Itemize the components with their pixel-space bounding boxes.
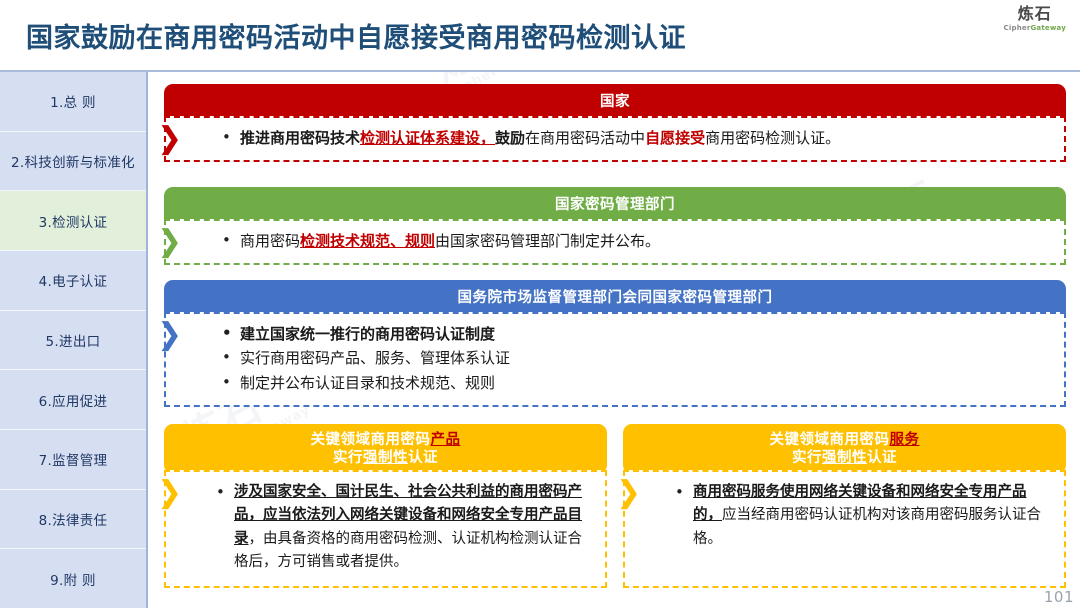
- card-service-title-line1: 关键领域商用密码服务: [770, 431, 920, 449]
- sidebar-item-9[interactable]: 9.附 则: [0, 549, 146, 608]
- sidebar-item-7[interactable]: 7.监督管理: [0, 430, 146, 490]
- logo-en-gateway: Gateway: [1030, 24, 1066, 32]
- card-product-title-line1: 关键领域商用密码产品: [311, 431, 461, 449]
- slide-root: 炼石 CipherGateway 炼石 CipherGateway 炼石 Cip…: [0, 0, 1080, 608]
- sidebar-item-4[interactable]: 4.电子认证: [0, 251, 146, 311]
- chevron-right-icon: ❯: [157, 124, 182, 154]
- list-item: 实行商用密码产品、服务、管理体系认证: [218, 347, 1050, 370]
- section-market-supervision-header: 国务院市场监督管理部门会同国家密码管理部门: [164, 280, 1066, 316]
- section-national: 国家 ❯ 推进商用密码技术检测认证体系建设，鼓励在商用密码活动中自愿接受商用密码…: [164, 84, 1066, 162]
- list-item: 商用密码服务使用网络关键设备和网络安全专用产品的，应当经商用密码认证机构对该商用…: [671, 481, 1052, 551]
- card-service-header: 关键领域商用密码服务 实行强制性认证: [623, 424, 1066, 474]
- section-market-supervision: 国务院市场监督管理部门会同国家密码管理部门 ❯ 建立国家统一推行的商用密码认证制…: [164, 280, 1066, 407]
- list-item: 商用密码检测技术规范、规则由国家密码管理部门制定并公布。: [218, 230, 1050, 253]
- sidebar-item-3[interactable]: 3.检测认证: [0, 191, 146, 251]
- chapter-sidebar: 1.总 则 2.科技创新与标准化 3.检测认证 4.电子认证 5.进出口 6.应…: [0, 72, 148, 608]
- section-market-supervision-bullet-list: 建立国家统一推行的商用密码认证制度 实行商用密码产品、服务、管理体系认证 制定并…: [218, 323, 1050, 395]
- section-crypto-authority-bullet-list: 商用密码检测技术规范、规则由国家密码管理部门制定并公布。: [218, 230, 1050, 253]
- logo-cn-text: 炼石: [1004, 6, 1066, 22]
- card-service-body: ❯ 商用密码服务使用网络关键设备和网络安全专用产品的，应当经商用密码认证机构对该…: [623, 470, 1066, 588]
- page-number: 101: [1044, 588, 1074, 606]
- chevron-right-icon: ❯: [616, 478, 641, 508]
- section-national-header: 国家: [164, 84, 1066, 120]
- chevron-right-icon: ❯: [157, 320, 182, 350]
- section-national-bullet-list: 推进商用密码技术检测认证体系建设，鼓励在商用密码活动中自愿接受商用密码检测认证。: [218, 127, 1050, 150]
- section-crypto-authority: 国家密码管理部门 ❯ 商用密码检测技术规范、规则由国家密码管理部门制定并公布。: [164, 187, 1066, 265]
- section-crypto-authority-header: 国家密码管理部门: [164, 187, 1066, 223]
- list-item: 建立国家统一推行的商用密码认证制度: [218, 323, 1050, 346]
- logo-en-cipher: Cipher: [1004, 24, 1031, 32]
- sidebar-item-5[interactable]: 5.进出口: [0, 311, 146, 371]
- sidebar-item-8[interactable]: 8.法律责任: [0, 490, 146, 550]
- card-product-header: 关键领域商用密码产品 实行强制性认证: [164, 424, 607, 474]
- list-item: 推进商用密码技术检测认证体系建设，鼓励在商用密码活动中自愿接受商用密码检测认证。: [218, 127, 1050, 150]
- card-service-bullet-list: 商用密码服务使用网络关键设备和网络安全专用产品的，应当经商用密码认证机构对该商用…: [671, 481, 1052, 551]
- section-national-body: ❯ 推进商用密码技术检测认证体系建设，鼓励在商用密码活动中自愿接受商用密码检测认…: [164, 116, 1066, 162]
- slide-header: 国家鼓励在商用密码活动中自愿接受商用密码检测认证 炼石 CipherGatewa…: [0, 0, 1080, 70]
- list-item: 涉及国家安全、国计民生、社会公共利益的商用密码产品，应当依法列入网络关键设备和网…: [212, 481, 593, 575]
- logo-en-text: CipherGateway: [1004, 25, 1066, 32]
- sidebar-item-1[interactable]: 1.总 则: [0, 72, 146, 132]
- sidebar-item-6[interactable]: 6.应用促进: [0, 370, 146, 430]
- list-item: 制定并公布认证目录和技术规范、规则: [218, 372, 1050, 395]
- card-product-title-line2: 实行强制性认证: [333, 449, 438, 467]
- chevron-right-icon: ❯: [157, 478, 182, 508]
- chevron-right-icon: ❯: [157, 227, 182, 257]
- page-title: 国家鼓励在商用密码活动中自愿接受商用密码检测认证: [26, 16, 686, 55]
- card-service-title-line2: 实行强制性认证: [792, 449, 897, 467]
- card-product: 关键领域商用密码产品 实行强制性认证 ❯ 涉及国家安全、国计民生、社会公共利益的…: [164, 424, 607, 588]
- card-product-body: ❯ 涉及国家安全、国计民生、社会公共利益的商用密码产品，应当依法列入网络关键设备…: [164, 470, 607, 588]
- section-crypto-authority-body: ❯ 商用密码检测技术规范、规则由国家密码管理部门制定并公布。: [164, 219, 1066, 265]
- card-service: 关键领域商用密码服务 实行强制性认证 ❯ 商用密码服务使用网络关键设备和网络安全…: [623, 424, 1066, 588]
- sidebar-item-2[interactable]: 2.科技创新与标准化: [0, 132, 146, 192]
- brand-logo: 炼石 CipherGateway: [1004, 6, 1066, 32]
- mandatory-certification-cards: 关键领域商用密码产品 实行强制性认证 ❯ 涉及国家安全、国计民生、社会公共利益的…: [164, 424, 1066, 588]
- slide-body: 国家 ❯ 推进商用密码技术检测认证体系建设，鼓励在商用密码活动中自愿接受商用密码…: [150, 72, 1080, 608]
- card-product-bullet-list: 涉及国家安全、国计民生、社会公共利益的商用密码产品，应当依法列入网络关键设备和网…: [212, 481, 593, 575]
- section-market-supervision-body: ❯ 建立国家统一推行的商用密码认证制度 实行商用密码产品、服务、管理体系认证 制…: [164, 312, 1066, 407]
